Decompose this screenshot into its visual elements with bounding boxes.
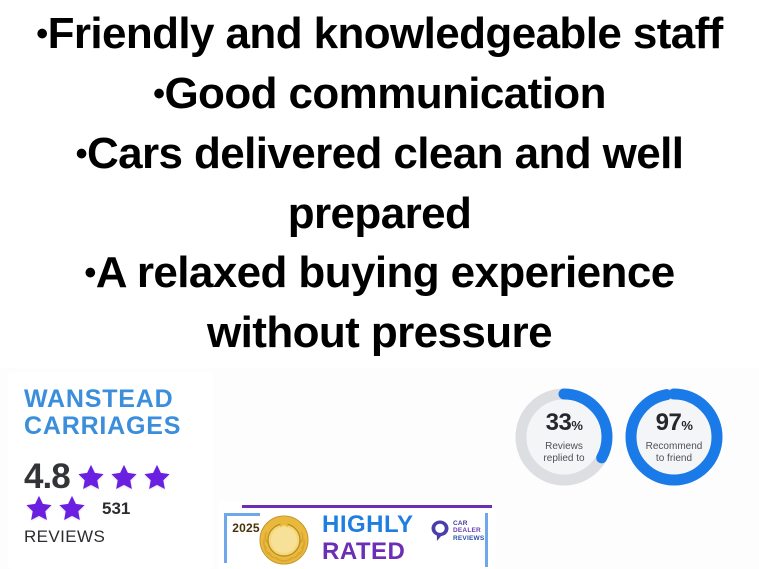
provider-line-2: DEALER <box>453 527 484 535</box>
bullet-text-1: Friendly and knowledgeable staff <box>48 9 723 58</box>
car-dealer-reviews-logo: CAR DEALER REVIEWS <box>430 519 484 543</box>
review-widget-strip: WANSTEAD CARRIAGES 4.8 <box>0 368 759 569</box>
highly-rated-award-badge: 2025 HIGHLY RATED CAR DEALER REVIEWS <box>218 501 496 569</box>
bullet-item-1: •Friendly and knowledgeable staff <box>0 4 759 64</box>
gauge-2-percent-sign: % <box>681 418 692 433</box>
gauge-1-label: Reviews replied to <box>543 441 584 465</box>
benefits-bullet-list: •Friendly and knowledgeable staff •Good … <box>0 0 759 362</box>
medal-year: 2025 <box>218 521 274 535</box>
stat-gauges: 33% Reviews replied to 97% Recommend <box>512 378 752 496</box>
rating-card: WANSTEAD CARRIAGES 4.8 <box>8 372 213 569</box>
brand-logo: WANSTEAD CARRIAGES <box>8 372 213 440</box>
gauge-2-content: 97% Recommend to friend <box>622 385 726 489</box>
bullet-item-4: •A relaxed buying experience without pre… <box>0 243 759 362</box>
bullet-text-4: A relaxed buying experience without pres… <box>96 248 675 357</box>
gauge-2-label-line-2: to friend <box>646 453 703 465</box>
bullet-text-2: Good communication <box>164 69 605 118</box>
bullet-item-2: •Good communication <box>0 64 759 124</box>
gauge-2-label: Recommend to friend <box>646 441 703 465</box>
star-icon <box>57 494 87 523</box>
stars-row-2-and-count: 531 <box>8 494 213 523</box>
score-and-stars: 4.8 <box>8 440 208 496</box>
star-icon <box>109 463 139 492</box>
provider-line-3: REVIEWS <box>453 535 484 543</box>
bullet-dot-icon: • <box>84 254 95 292</box>
bullet-text-3: Cars delivered clean and well prepared <box>87 129 683 238</box>
gauge-2-number: 97 <box>656 409 682 436</box>
award-title: HIGHLY RATED <box>322 511 413 565</box>
gauge-1-number: 33 <box>546 409 572 436</box>
star-icon <box>142 463 172 492</box>
gauge-1-label-line-1: Reviews <box>543 441 584 453</box>
gauge-1-value: 33% <box>546 410 583 438</box>
average-score: 4.8 <box>24 458 70 496</box>
gauge-reviews-replied-to: 33% Reviews replied to <box>512 385 616 489</box>
bullet-item-3: •Cars delivered clean and well prepared <box>0 124 759 243</box>
bullet-dot-icon: • <box>153 75 164 113</box>
gauge-2-value: 97% <box>656 410 693 438</box>
gauge-1-content: 33% Reviews replied to <box>512 385 616 489</box>
star-icon <box>76 463 106 492</box>
slide-canvas: •Friendly and knowledgeable staff •Good … <box>0 0 759 569</box>
reviews-label: REVIEWS <box>8 527 213 547</box>
bullet-dot-icon: • <box>76 135 87 173</box>
gauge-1-label-line-2: replied to <box>543 453 584 465</box>
provider-name: CAR DEALER REVIEWS <box>453 520 484 543</box>
brand-line-2: CARRIAGES <box>24 413 213 440</box>
provider-line-1: CAR <box>453 520 484 528</box>
star-icon <box>24 494 54 523</box>
award-title-line-2: RATED <box>322 538 413 565</box>
gauge-2-label-line-1: Recommend <box>646 441 703 453</box>
speech-bubble-icon <box>430 519 450 543</box>
badge-top-rule <box>242 505 492 508</box>
gold-medal-icon <box>256 511 312 567</box>
gauge-recommend-to-friend: 97% Recommend to friend <box>622 385 726 489</box>
review-count: 531 <box>102 499 130 519</box>
gauge-1-percent-sign: % <box>571 418 582 433</box>
award-title-line-1: HIGHLY <box>322 511 413 538</box>
brand-line-1: WANSTEAD <box>24 385 173 413</box>
bullet-dot-icon: • <box>36 15 47 53</box>
